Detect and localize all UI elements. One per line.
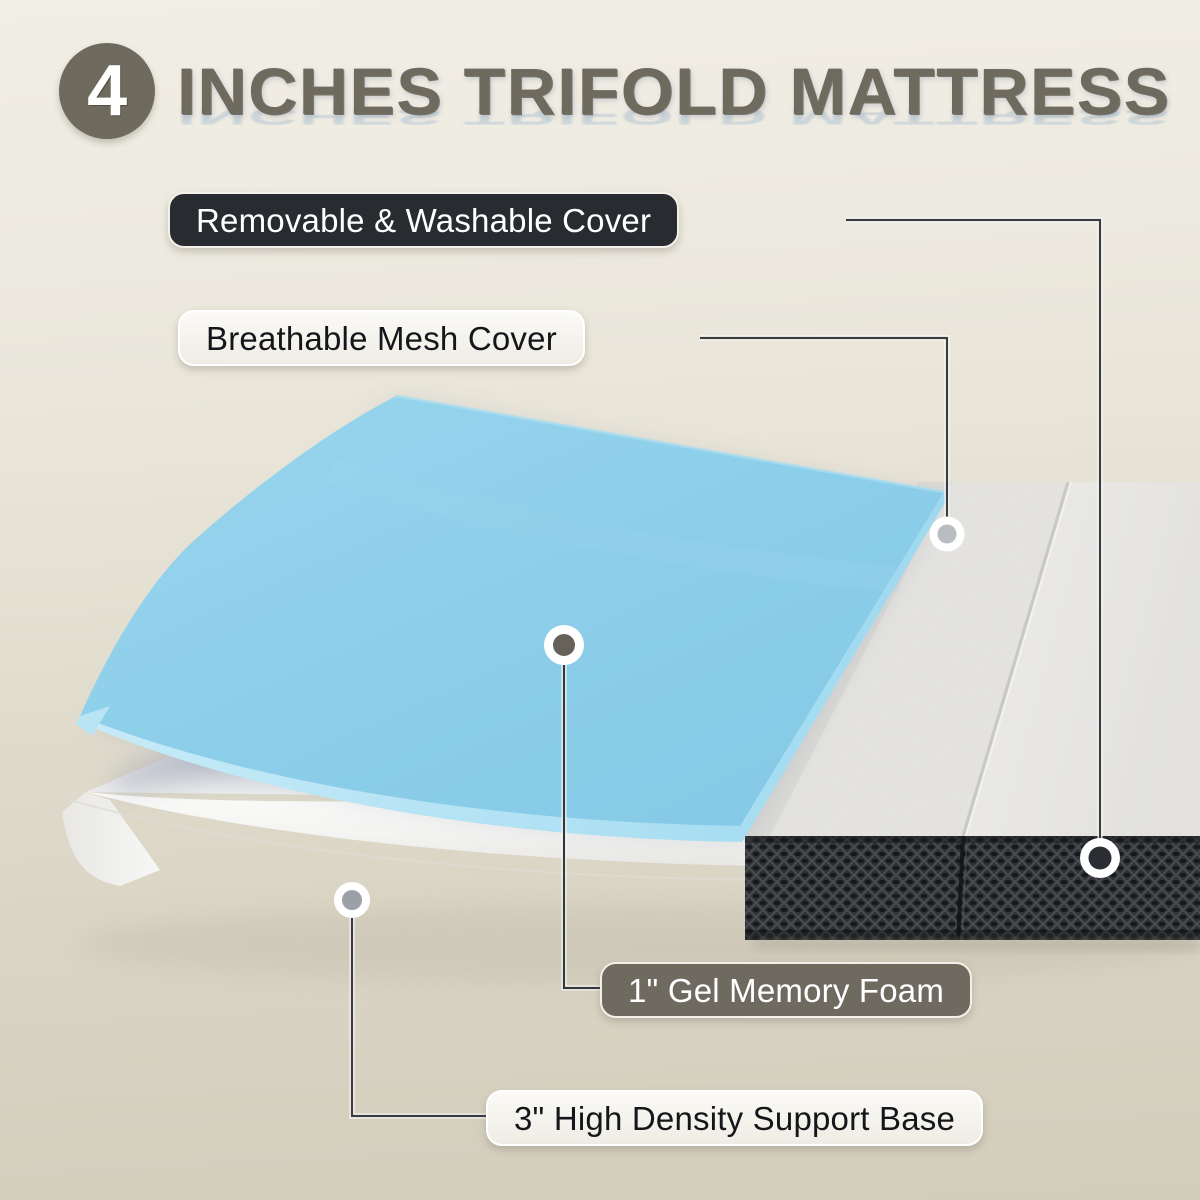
mesh-top-shade: [740, 836, 1200, 843]
callout-gel-memory-foam[interactable]: 1" Gel Memory Foam: [600, 962, 972, 1018]
marker-removable-cover[interactable]: [1080, 838, 1120, 878]
marker-gel-memory-foam[interactable]: [544, 625, 584, 665]
callout-removable-cover[interactable]: Removable & Washable Cover: [168, 192, 679, 248]
callout-breathable-mesh-cover[interactable]: Breathable Mesh Cover: [178, 310, 585, 366]
mesh-weave-pattern: [740, 836, 1200, 942]
mattress-illustration: [0, 0, 1200, 1200]
marker-breathable-mesh-cover[interactable]: [930, 517, 965, 552]
callout-breathable-mesh-cover-label: Breathable Mesh Cover: [206, 322, 557, 355]
marker-support-base[interactable]: [334, 882, 370, 918]
callout-high-density-support-base[interactable]: 3" High Density Support Base: [486, 1090, 983, 1146]
callout-high-density-support-base-label: 3" High Density Support Base: [514, 1102, 955, 1135]
callout-gel-memory-foam-label: 1" Gel Memory Foam: [628, 974, 944, 1007]
breathable-mesh-band: [740, 836, 1200, 950]
infographic-canvas: INCHES TRIFOLD MATTRESS 4 INCHES TRIFOLD…: [0, 0, 1200, 1200]
callout-removable-cover-label: Removable & Washable Cover: [196, 204, 651, 237]
